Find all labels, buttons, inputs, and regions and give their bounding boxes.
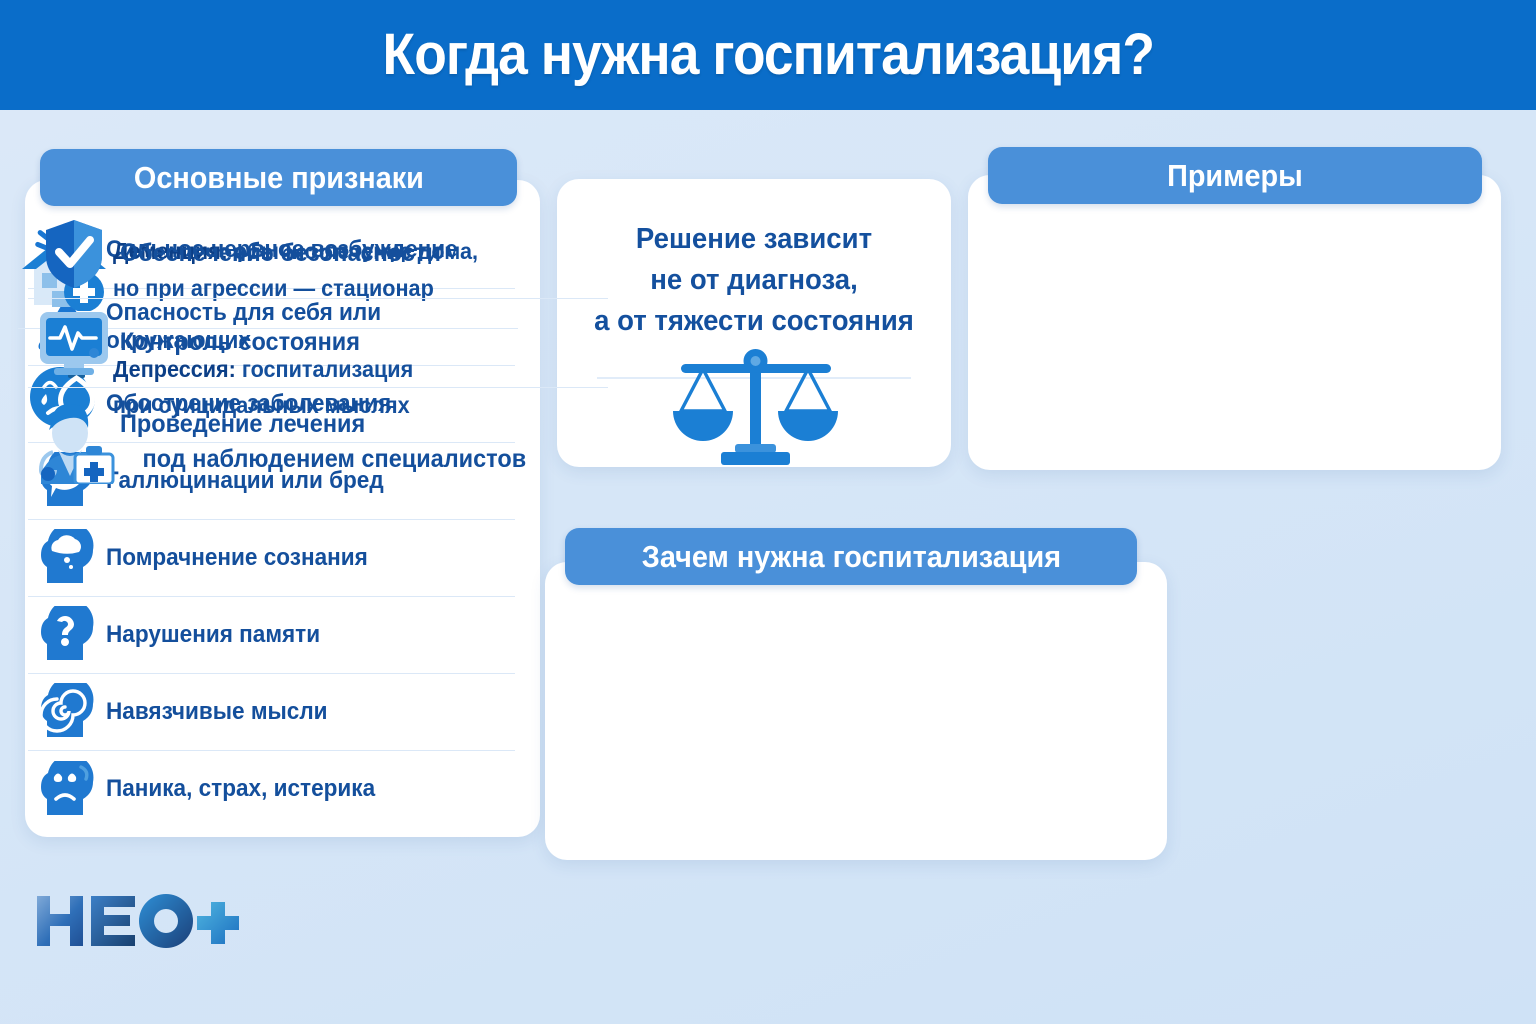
decision-statement-text: Решение зависит не от диагноза, а от тяж…	[557, 219, 951, 343]
list-item[interactable]: Паника, страх, истерика	[28, 751, 515, 828]
purpose-line2: под наблюдением специалистов	[143, 445, 527, 475]
list-item-label: Нарушения памяти	[106, 621, 320, 649]
list-item-label: Паника, страх, истерика	[106, 775, 375, 803]
main-signs-title-pill: Основные признаки	[40, 149, 517, 206]
head-question-icon	[28, 604, 106, 666]
decision-line-3: а от тяжести состояния	[567, 301, 941, 342]
examples-card	[968, 175, 1501, 470]
purpose-line1: Проведение лечения	[120, 410, 365, 438]
head-spiral-icon	[28, 681, 106, 743]
decision-line-1: Решение зависит	[567, 219, 941, 260]
head-cloud-icon	[28, 527, 106, 589]
list-item-label: Обеспечение безопасности	[120, 239, 441, 269]
list-item[interactable]: Навязчивые мысли	[28, 674, 515, 751]
purpose-card	[545, 562, 1167, 860]
list-item-label: Контроль состояния	[120, 328, 360, 358]
doctor-bag-icon	[28, 404, 120, 480]
page-header: Когда нужна госпитализация?	[0, 0, 1536, 110]
purpose-title-pill: Зачем нужна госпитализация	[565, 528, 1137, 585]
list-item[interactable]: Проведение лечения под наблюдением специ…	[28, 388, 608, 496]
list-item[interactable]: Помрачнение сознания	[28, 520, 515, 597]
page-title: Когда нужна госпитализация?	[382, 26, 1153, 84]
logo-neo-plus-icon	[35, 890, 240, 952]
list-item-label: Навязчивые мысли	[106, 698, 328, 726]
purpose-title: Зачем нужна госпитализация	[641, 539, 1060, 575]
list-item[interactable]: Обеспечение безопасности	[28, 210, 608, 299]
main-signs-title: Основные признаки	[134, 160, 424, 196]
shield-check-icon	[28, 216, 120, 292]
balance-scales-icon	[659, 345, 849, 472]
ecg-monitor-icon	[28, 305, 120, 381]
list-item[interactable]: Контроль состояния	[28, 299, 608, 388]
head-panic-face-icon	[28, 759, 106, 821]
list-item-label: Проведение лечения под наблюдением специ…	[120, 410, 526, 475]
examples-title: Примеры	[1167, 158, 1303, 194]
examples-title-pill: Примеры	[988, 147, 1482, 204]
decision-statement-card: Решение зависит не от диагноза, а от тяж…	[557, 179, 951, 467]
purpose-list: Обеспечение безопасности Контроль состоя…	[28, 210, 608, 496]
list-item[interactable]: Нарушения памяти	[28, 597, 515, 674]
decision-line-2: не от диагноза,	[567, 260, 941, 301]
list-item-label: Помрачнение сознания	[106, 544, 368, 572]
brand-logo	[35, 890, 240, 952]
